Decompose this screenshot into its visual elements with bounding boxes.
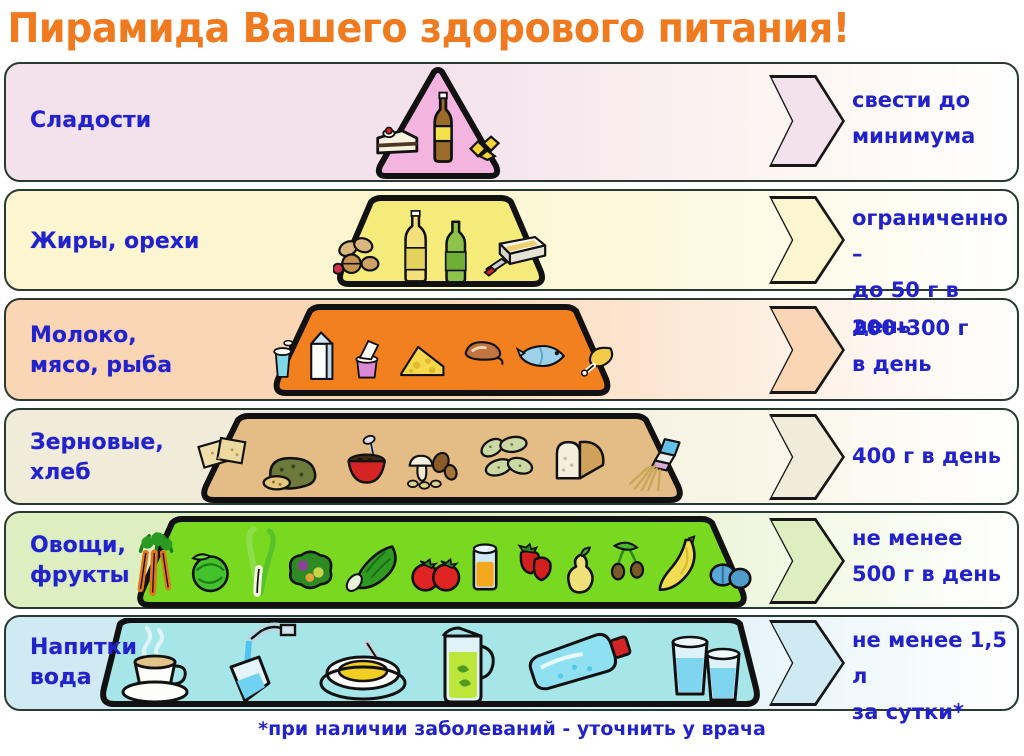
callout-arrow-fats-nuts <box>769 196 845 284</box>
callout-arrow-vegetables-fruits <box>769 518 845 604</box>
pyramid-tier-milk-meat-fish <box>270 303 615 399</box>
callout-note-vegetables-fruits: не менее 500 г в день <box>852 520 1001 592</box>
callout-note-sweets: свести до минимума <box>852 82 975 154</box>
pyramid-tier-fats-nuts <box>333 194 549 289</box>
callout-arrow-milk-meat-fish <box>769 306 845 394</box>
row-label-drinks-water: Напитки вода <box>30 633 137 693</box>
pyramid-tier-sweets <box>374 66 502 182</box>
poster-root: Пирамида Вашего здорового питания! Сладо… <box>0 0 1024 756</box>
row-label-vegetables-fruits: Овощи, фрукты <box>30 531 130 591</box>
pyramid-tier-grains-bread <box>196 412 688 505</box>
page-title: Пирамида Вашего здорового питания! <box>0 5 850 51</box>
callout-arrow-sweets <box>769 75 845 167</box>
callout-note-drinks-water: не менее 1,5 л за сутки* <box>852 622 1024 730</box>
row-label-sweets: Сладости <box>30 106 151 136</box>
row-label-milk-meat-fish: Молоко, мясо, рыба <box>30 321 172 381</box>
callout-arrow-grains-bread <box>769 414 845 500</box>
poster-title-bar: Пирамида Вашего здорового питания! <box>0 0 1024 56</box>
callout-note-grains-bread: 400 г в день <box>852 438 1001 474</box>
callout-arrow-drinks-water <box>769 620 845 706</box>
pyramid-tier-drinks-water <box>96 618 764 710</box>
row-label-fats-nuts: Жиры, орехи <box>30 227 199 257</box>
row-label-grains-bread: Зерновые, хлеб <box>30 428 164 488</box>
pyramid-tier-vegetables-fruits <box>132 515 752 610</box>
callout-note-milk-meat-fish: 200–300 г в день <box>852 310 968 382</box>
